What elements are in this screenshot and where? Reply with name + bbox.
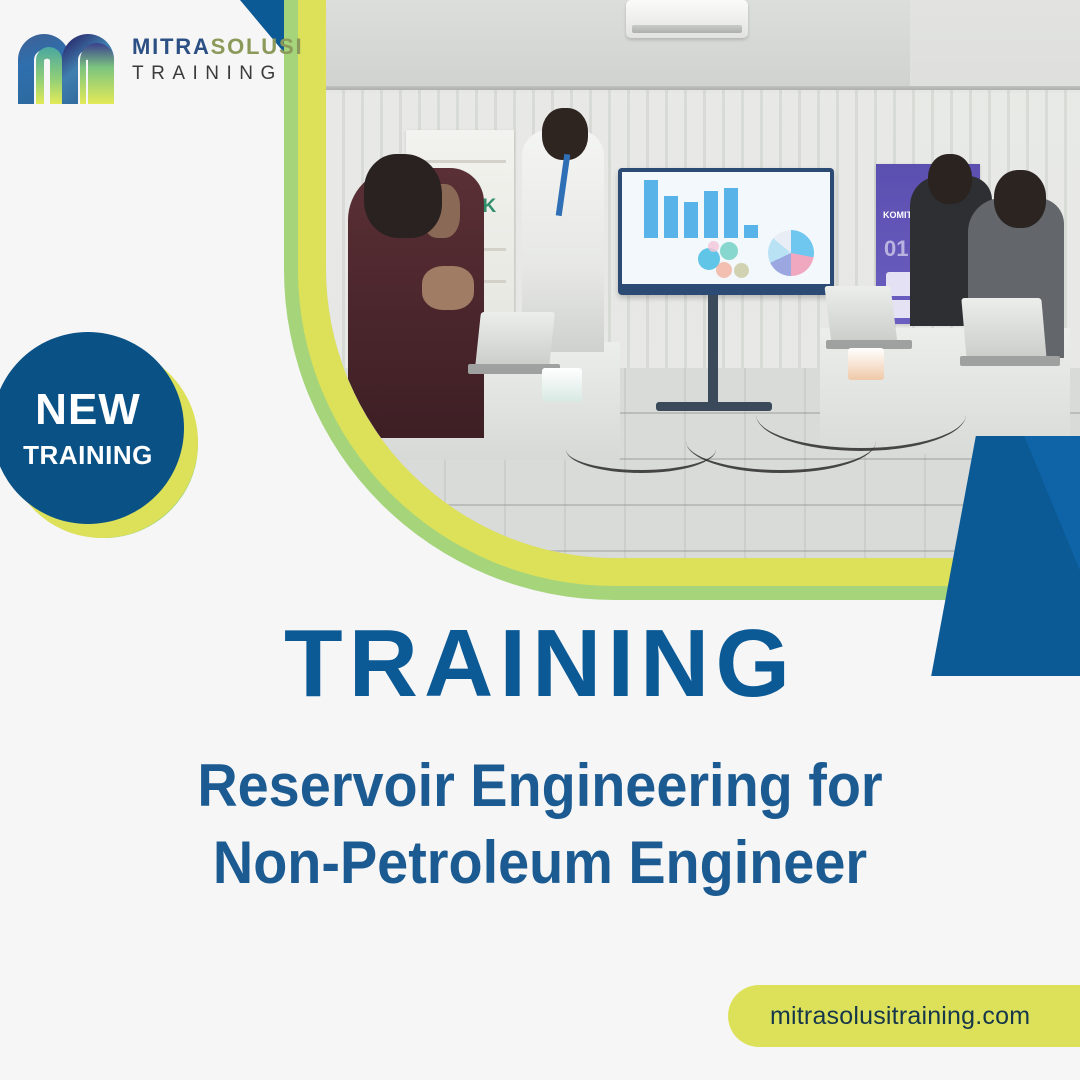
display-stand-pole (708, 295, 718, 407)
badge-circle: NEW TRAINING (0, 332, 184, 524)
website-pill[interactable]: mitrasolusitraining.com (728, 985, 1080, 1047)
participant-right-front-head (994, 170, 1046, 228)
tissue-box-right (848, 348, 884, 380)
display-stand-foot (656, 402, 772, 411)
tissue-box-left (542, 368, 582, 402)
participant-left-head (364, 154, 442, 238)
page-title: TRAINING (0, 616, 1080, 712)
brand-name-mitra: MITRA (132, 34, 211, 59)
laptop-right-rear (824, 286, 897, 344)
course-subtitle: Reservoir Engineering for Non-Petroleum … (127, 748, 953, 902)
poster-canvas: AKHLAK Core Values KOMITMEN SAYA 01 02 (0, 0, 1080, 1080)
mitra-solusi-m-mark-icon (14, 26, 126, 104)
badge-label-new: NEW (35, 388, 141, 432)
participant-left-hands (422, 266, 474, 310)
badge-label-training: TRAINING (23, 442, 153, 468)
brand-name-training: TRAINING (132, 64, 284, 83)
air-conditioner (626, 0, 748, 38)
brand-name-solusi: SOLUSI (211, 34, 304, 59)
laptop-right-front (961, 298, 1046, 360)
laptop-right-front-base (960, 356, 1060, 366)
laptop-left (475, 312, 555, 368)
brand-logo[interactable]: MITRASOLUSI TRAINING (14, 22, 284, 112)
anti-bribery-step-1: 01 (884, 236, 908, 262)
dashboard-screen (622, 172, 830, 284)
dashboard-pie-chart (768, 230, 814, 276)
participant-right-rear-head (928, 154, 972, 204)
new-training-badge[interactable]: NEW TRAINING (0, 332, 198, 548)
brand-wordmark: MITRASOLUSI TRAINING (132, 36, 284, 83)
display-control-bar (622, 285, 830, 293)
presentation-display (618, 168, 834, 295)
presenter-head (542, 108, 588, 160)
website-url: mitrasolusitraining.com (770, 1002, 1030, 1031)
